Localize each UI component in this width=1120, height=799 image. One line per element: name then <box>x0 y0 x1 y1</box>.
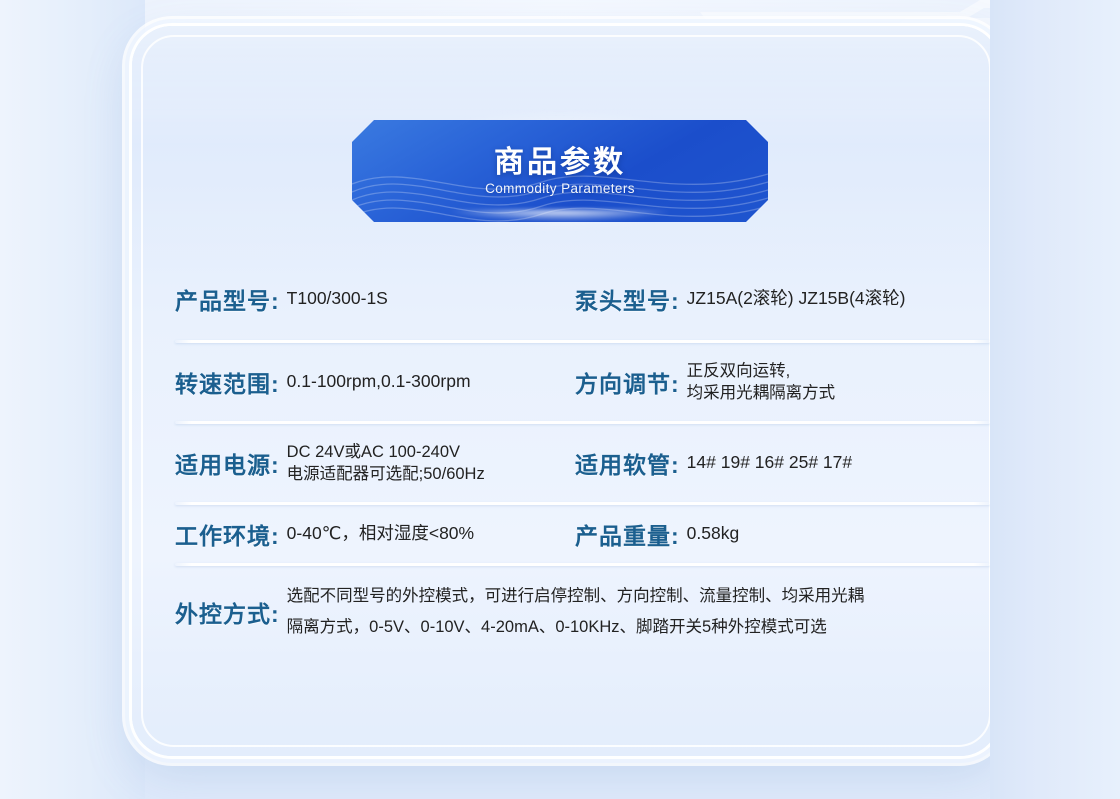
banner-subtitle: Commodity Parameters <box>485 181 635 196</box>
spec-cell-speed-range: 转速范围: 0.1-100rpm,0.1-300rpm <box>175 343 575 421</box>
spec-cell-working-environment: 工作环境: 0-40℃，相对湿度<80% <box>175 505 575 563</box>
spec-row: 产品型号: T100/300-1S 泵头型号: JZ15A(2滚轮) JZ15B… <box>175 282 990 340</box>
banner-title: 商品参数 <box>494 146 626 180</box>
spec-value: JZ15A(2滚轮) JZ15B(4滚轮) <box>687 287 906 311</box>
spec-cell-power-supply: 适用电源: DC 24V或AC 100-240V 电源适配器可选配;50/60H… <box>175 424 575 502</box>
spec-value-line: 选配不同型号的外控模式，可进行启停控制、方向控制、流量控制、均采用光耦 <box>287 581 865 612</box>
page-background: 商品参数 Commodity Parameters 产品型号: T100/300… <box>0 0 1120 799</box>
spec-value: 正反双向运转, 均采用光耦隔离方式 <box>687 360 836 405</box>
spec-value-line: 电源适配器可选配;50/60Hz <box>287 463 485 485</box>
spec-label: 转速范围: <box>175 365 280 399</box>
banner-plate: 商品参数 Commodity Parameters <box>352 120 768 222</box>
spec-label: 工作环境: <box>175 517 280 551</box>
spec-value: T100/300-1S <box>287 287 388 311</box>
spec-label: 适用电源: <box>175 446 280 480</box>
spec-cell-direction-control: 方向调节: 正反双向运转, 均采用光耦隔离方式 <box>575 343 990 421</box>
spec-cell-applicable-hose: 适用软管: 14# 19# 16# 25# 17# <box>575 424 990 502</box>
spec-label: 泵头型号: <box>575 282 680 316</box>
spec-label: 产品型号: <box>175 282 280 316</box>
spec-value-line: 隔离方式，0-5V、0-10V、4-20mA、0-10KHz、脚踏开关5种外控模… <box>287 612 865 643</box>
spec-row: 外控方式: 选配不同型号的外控模式，可进行启停控制、方向控制、流量控制、均采用光… <box>175 566 990 658</box>
spec-cell-product-model: 产品型号: T100/300-1S <box>175 282 575 316</box>
spec-value-line: DC 24V或AC 100-240V <box>287 441 485 463</box>
banner-text-block: 商品参数 Commodity Parameters <box>352 120 768 222</box>
spec-row: 工作环境: 0-40℃，相对湿度<80% 产品重量: 0.58kg <box>175 505 990 563</box>
spec-row: 适用电源: DC 24V或AC 100-240V 电源适配器可选配;50/60H… <box>175 424 990 502</box>
spec-value: 0.1-100rpm,0.1-300rpm <box>287 370 471 394</box>
spec-label: 方向调节: <box>575 365 680 399</box>
spec-row: 转速范围: 0.1-100rpm,0.1-300rpm 方向调节: 正反双向运转… <box>175 343 990 421</box>
spec-value: 0.58kg <box>687 522 740 546</box>
spec-value: 选配不同型号的外控模式，可进行启停控制、方向控制、流量控制、均采用光耦 隔离方式… <box>287 581 865 642</box>
spec-value: 14# 19# 16# 25# 17# <box>687 451 852 475</box>
spec-table: 产品型号: T100/300-1S 泵头型号: JZ15A(2滚轮) JZ15B… <box>175 282 990 658</box>
spec-cell-product-weight: 产品重量: 0.58kg <box>575 505 990 563</box>
spec-cell-pump-head-model: 泵头型号: JZ15A(2滚轮) JZ15B(4滚轮) <box>575 282 990 316</box>
spec-value: 0-40℃，相对湿度<80% <box>287 522 474 546</box>
spec-label: 外控方式: <box>175 595 280 629</box>
section-banner: 商品参数 Commodity Parameters <box>352 120 768 222</box>
spec-value-line: 正反双向运转, <box>687 360 836 382</box>
spec-label: 产品重量: <box>575 517 680 551</box>
spec-value: DC 24V或AC 100-240V 电源适配器可选配;50/60Hz <box>287 441 485 486</box>
spec-value-line: 均采用光耦隔离方式 <box>687 382 836 404</box>
banner-underglow <box>410 210 710 236</box>
spec-cell-external-control: 外控方式: 选配不同型号的外控模式，可进行启停控制、方向控制、流量控制、均采用光… <box>175 566 990 658</box>
spec-label: 适用软管: <box>575 446 680 480</box>
